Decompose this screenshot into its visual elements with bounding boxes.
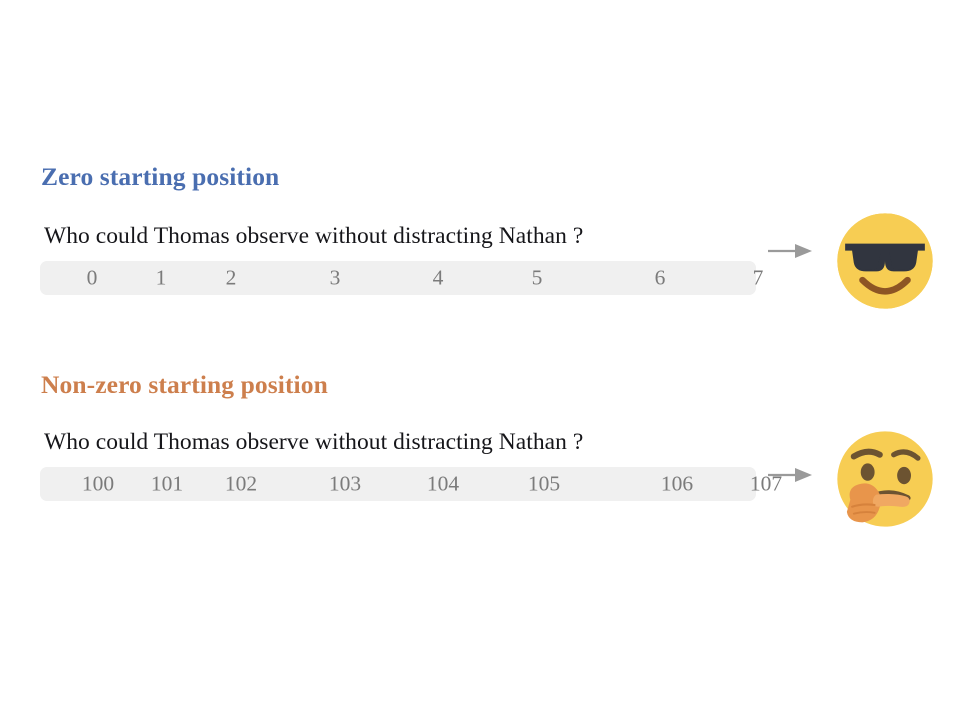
position-index: 3 — [330, 267, 341, 289]
position-index: 2 — [226, 267, 237, 289]
section-heading-nonzero: Non-zero starting position — [41, 371, 328, 399]
position-index: 101 — [151, 473, 183, 495]
position-index: 5 — [532, 267, 543, 289]
position-index: 104 — [427, 473, 459, 495]
position-index: 100 — [82, 473, 114, 495]
position-index: 6 — [655, 267, 666, 289]
position-index: 4 — [433, 267, 444, 289]
smiling-face-with-sunglasses-emoji — [833, 209, 937, 313]
position-index: 7 — [753, 267, 764, 289]
thinking-face-emoji — [833, 427, 937, 531]
position-index: 102 — [225, 473, 257, 495]
right-arrow-icon — [767, 241, 813, 261]
position-index: 106 — [661, 473, 693, 495]
position-index: 105 — [528, 473, 560, 495]
slide-canvas: Zero starting position Who could Thomas … — [0, 0, 960, 720]
right-arrow-icon — [767, 465, 813, 485]
position-index-band-zero: 0 1 2 3 4 5 6 7 — [40, 261, 756, 295]
position-index: 0 — [87, 267, 98, 289]
position-index: 103 — [329, 473, 361, 495]
example-sentence-zero: Who could Thomas observe without distrac… — [44, 223, 583, 250]
example-sentence-nonzero: Who could Thomas observe without distrac… — [44, 429, 583, 456]
position-index-band-nonzero: 100 101 102 103 104 105 106 107 — [40, 467, 756, 501]
section-heading-zero: Zero starting position — [41, 163, 279, 191]
position-index: 1 — [156, 267, 167, 289]
